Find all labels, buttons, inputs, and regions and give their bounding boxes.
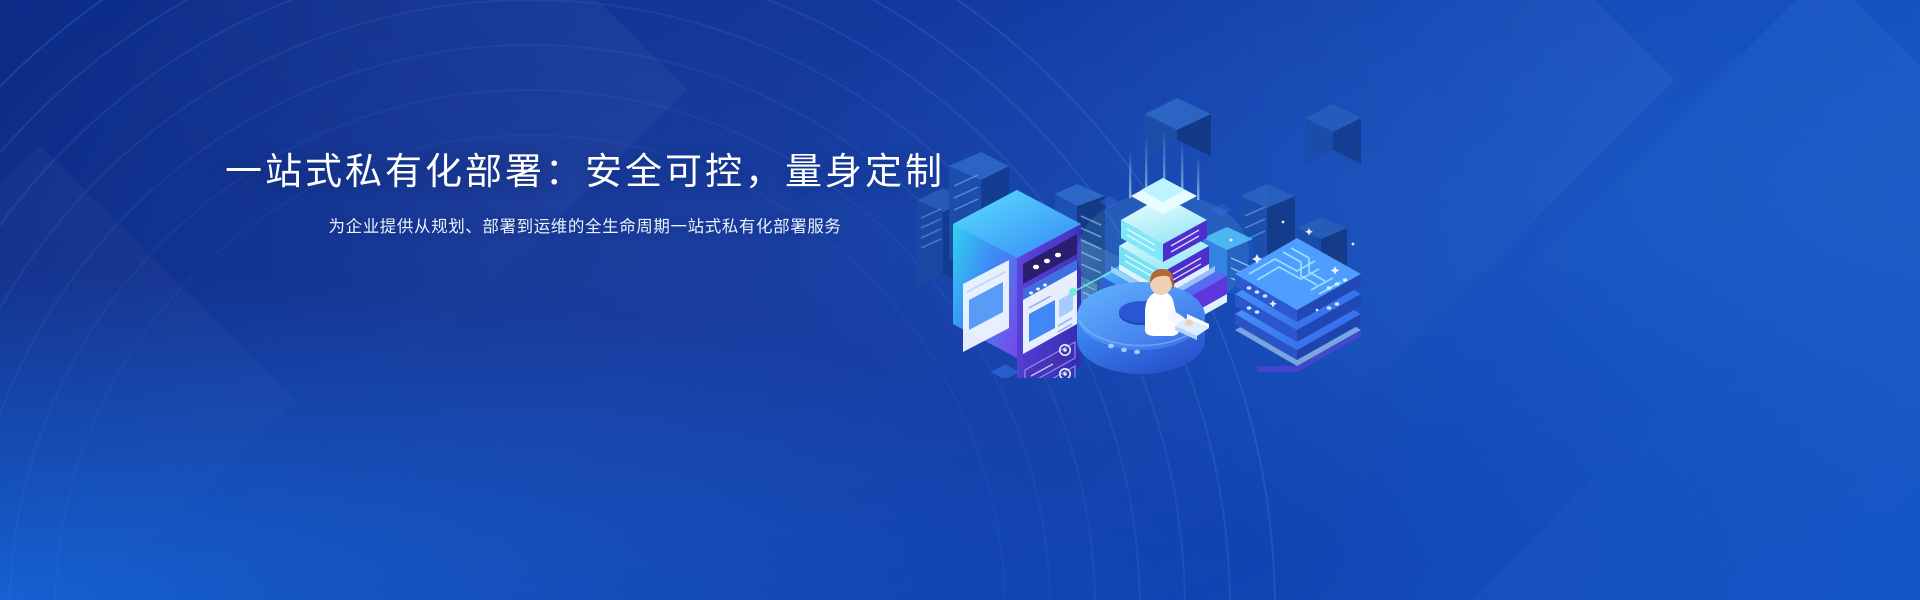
hero-illustration: [905, 78, 1375, 378]
background-facet-4: [1401, 401, 1920, 600]
hero-banner: 一站式私有化部署：安全可控，量身定制 为企业提供从规划、部署到运维的全生命周期一…: [0, 0, 1920, 600]
dark-cube-decoration-2: [1305, 104, 1361, 164]
background-facet-3: [1521, 0, 1920, 579]
dark-cube-decoration: [1145, 98, 1211, 156]
